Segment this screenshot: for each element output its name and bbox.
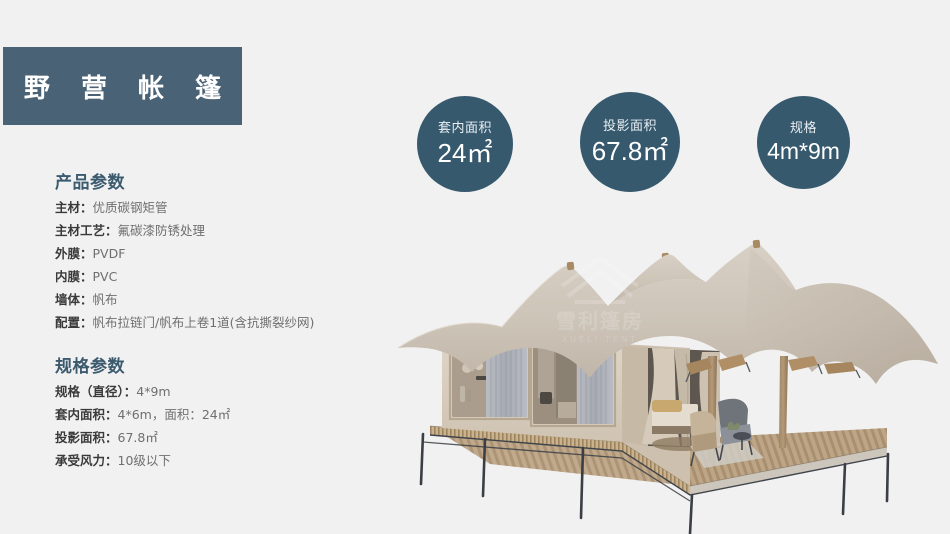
spec-label: 墙体： xyxy=(55,292,93,307)
tent-illustration: 雪利篷房 XUELI TENT xyxy=(390,196,950,534)
spec-value: 4*9m xyxy=(136,384,170,399)
spec-value: 氟碳漆防锈处理 xyxy=(118,223,206,238)
spec-row: 墙体：帆布 xyxy=(55,291,390,309)
product-spec-page: 野 营 帐 篷 产品参数 主材：优质碳钢矩管 主材工艺：氟碳漆防锈处理 外膜：P… xyxy=(0,0,950,534)
spec-row: 主材工艺：氟碳漆防锈处理 xyxy=(55,222,390,240)
spec-value: 4*6m，面积：24㎡ xyxy=(118,407,231,422)
spec-label: 套内面积： xyxy=(55,407,118,422)
spec-label: 主材： xyxy=(55,200,93,215)
circle-label: 规格 xyxy=(790,122,817,135)
spec-label: 内膜： xyxy=(55,269,93,284)
page-title: 野 营 帐 篷 xyxy=(13,68,232,105)
highlight-circle-size: 规格 4m*9m xyxy=(757,96,850,189)
circle-value: 24㎡ xyxy=(438,140,493,166)
spec-label: 外膜： xyxy=(55,246,93,261)
spec-value: PVDF xyxy=(93,246,126,261)
spec-row: 配置：帆布拉链门/帆布上卷1道(含抗撕裂纱网) xyxy=(55,314,390,332)
spec-row: 投影面积：67.8㎡ xyxy=(55,429,390,447)
spec-row: 套内面积：4*6m，面积：24㎡ xyxy=(55,406,390,424)
spec-value: 帆布 xyxy=(93,292,118,307)
spec-row: 主材：优质碳钢矩管 xyxy=(55,199,390,217)
spec-group-dimensions: 规格参数 规格（直径）：4*9m 套内面积：4*6m，面积：24㎡ 投影面积：6… xyxy=(0,352,390,470)
spec-heading-dimensions: 规格参数 xyxy=(55,352,390,377)
spec-value: 帆布拉链门/帆布上卷1道(含抗撕裂纱网) xyxy=(93,315,315,330)
spec-row: 内膜：PVC xyxy=(55,268,390,286)
spacer xyxy=(0,338,390,352)
spec-heading-product: 产品参数 xyxy=(55,168,390,193)
spec-value: PVC xyxy=(93,269,118,284)
spec-label: 承受风力： xyxy=(55,453,118,468)
spec-value: 67.8㎡ xyxy=(118,430,158,445)
watermark-subtext: XUELI TENT xyxy=(562,335,638,344)
spec-label: 主材工艺： xyxy=(55,223,118,238)
spec-row: 外膜：PVDF xyxy=(55,245,390,263)
tent-product-image: 雪利篷房 XUELI TENT xyxy=(390,196,950,534)
highlight-circle-projected-area: 投影面积 67.8㎡ xyxy=(580,92,680,192)
watermark-text: 雪利篷房 xyxy=(556,309,644,333)
spec-group-product: 产品参数 主材：优质碳钢矩管 主材工艺：氟碳漆防锈处理 外膜：PVDF 内膜：P… xyxy=(0,168,390,332)
circle-value: 4m*9m xyxy=(767,140,840,163)
spec-value: 10级以下 xyxy=(118,453,171,468)
circle-label: 套内面积 xyxy=(438,122,492,135)
circle-value: 67.8㎡ xyxy=(592,138,669,164)
spec-label: 规格（直径）： xyxy=(55,384,136,399)
circle-label: 投影面积 xyxy=(603,120,657,133)
specification-column: 产品参数 主材：优质碳钢矩管 主材工艺：氟碳漆防锈处理 外膜：PVDF 内膜：P… xyxy=(0,168,390,476)
spec-row: 承受风力：10级以下 xyxy=(55,452,390,470)
highlight-circle-interior-area: 套内面积 24㎡ xyxy=(417,96,513,192)
spec-label: 配置： xyxy=(55,315,93,330)
page-title-banner: 野 营 帐 篷 xyxy=(3,47,242,125)
spec-row: 规格（直径）：4*9m xyxy=(55,383,390,401)
spec-label: 投影面积： xyxy=(55,430,118,445)
spec-value: 优质碳钢矩管 xyxy=(93,200,168,215)
